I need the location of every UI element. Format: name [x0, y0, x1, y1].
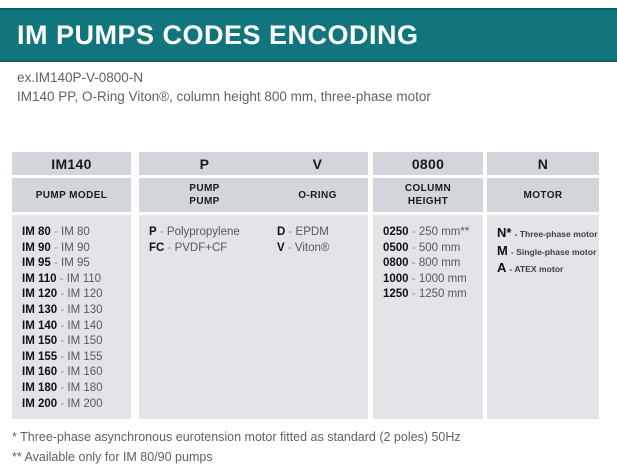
column-heading-cell: COLUMNHEIGHT [373, 178, 483, 212]
code-entry-value: 250 mm** [419, 226, 470, 238]
code-entry-key: FC [149, 242, 164, 254]
code-entry: IM 140 - IM 140 [22, 319, 131, 335]
code-entry: 0250 - 250 mm** [383, 225, 483, 241]
code-entry-dash: - [409, 257, 419, 269]
code-entry-key: 0500 [383, 242, 409, 254]
column-code-cell: P [139, 152, 270, 175]
example-description: IM140 PP, O-Ring Viton®, column height 8… [17, 87, 597, 106]
code-entry-dash: - [409, 273, 419, 285]
code-entry-key: IM 90 [22, 242, 51, 254]
column-code-cell: V [267, 152, 368, 175]
code-entry-key: P [149, 226, 157, 238]
code-entry: IM 180 - IM 180 [22, 381, 131, 397]
column-code-cell: 0800 [373, 152, 483, 175]
code-entry-dash: - [57, 304, 67, 316]
code-entry-dash: - [409, 226, 419, 238]
table-column: 0800COLUMNHEIGHT0250 - 250 mm**0500 - 50… [373, 152, 483, 419]
column-heading-line1: MOTOR [523, 189, 562, 202]
code-entry: A- ATEX motor [497, 260, 599, 278]
code-entry-key: 1250 [383, 288, 409, 300]
code-entry-dash: - [57, 335, 67, 347]
code-entry-key: M [497, 243, 508, 260]
column-heading-line1: COLUMN [405, 182, 451, 195]
code-entry-value: 1250 mm [419, 288, 467, 300]
code-entry: 0500 - 500 mm [383, 241, 483, 257]
column-heading-cell: PUMPPUMP [139, 178, 270, 212]
code-entry-value: IM 180 [67, 382, 102, 394]
column-heading-line1: PUMP [189, 182, 220, 195]
column-body-cell: IM 80 - IM 80IM 90 - IM 90IM 95 - IM 95I… [12, 215, 131, 419]
column-body-cell: P - PolypropyleneFC - PVDF+CF [139, 215, 270, 419]
code-entry-dash: - [164, 242, 174, 254]
code-entry: 0800 - 800 mm [383, 256, 483, 272]
code-entry-value: 800 mm [419, 257, 461, 269]
code-entry-key: IM 200 [22, 398, 57, 410]
code-entry-value: IM 140 [67, 320, 102, 332]
column-code-text: N [538, 156, 548, 172]
column-heading-cell: MOTOR [487, 178, 599, 212]
page-title-bar: IM PUMPS CODES ENCODING [0, 8, 617, 62]
code-entry: IM 130 - IM 130 [22, 303, 131, 319]
code-entry-key: N* [497, 225, 511, 242]
table-column: NMOTORN*- Three-phase motorM- Single-pha… [487, 152, 599, 419]
column-code-text: IM140 [51, 156, 91, 172]
table-column: VO-RINGD - EPDMV - Viton® [267, 152, 368, 419]
code-entry-value: 500 mm [419, 242, 461, 254]
code-entry-value: IM 90 [61, 242, 90, 254]
code-entry-dash: - [57, 288, 67, 300]
example-block: ex.IM140P-V-0800-N IM140 PP, O-Ring Vito… [17, 68, 597, 106]
code-entry-dash: - [57, 351, 67, 363]
footnotes-block: * Three-phase asynchronous eurotension m… [12, 427, 602, 467]
code-entry-key: IM 120 [22, 288, 57, 300]
column-code-cell: IM140 [12, 152, 131, 175]
footnote-double-asterisk: ** Available only for IM 80/90 pumps [12, 447, 602, 467]
code-entry: N*- Three-phase motor [497, 225, 599, 243]
column-code-text: P [200, 156, 210, 172]
column-code-text: V [313, 156, 323, 172]
code-entry-dash: - [57, 366, 67, 378]
code-entry-dash: - [57, 320, 67, 332]
code-entry: P - Polypropylene [149, 225, 270, 241]
code-entry: IM 80 - IM 80 [22, 225, 131, 241]
code-entry-value: IM 150 [67, 335, 102, 347]
code-entry: IM 160 - IM 160 [22, 365, 131, 381]
code-entry: IM 155 - IM 155 [22, 350, 131, 366]
code-entry-value: PVDF+CF [175, 242, 228, 254]
codes-table: IM140PUMP MODELIM 80 - IM 80IM 90 - IM 9… [12, 152, 599, 419]
code-entry-value: EPDM [296, 226, 329, 238]
code-entry-key: 0250 [383, 226, 409, 238]
code-entry-key: 1000 [383, 273, 409, 285]
code-entry-dash: - [409, 242, 419, 254]
code-entry-value: IM 110 [67, 273, 101, 285]
code-entry-value: IM 130 [67, 304, 102, 316]
code-entry-key: 0800 [383, 257, 409, 269]
code-entry: IM 110 - IM 110 [22, 272, 131, 288]
code-entry-value: IM 95 [61, 257, 90, 269]
code-entry: 1250 - 1250 mm [383, 287, 483, 303]
code-entry-key: IM 150 [22, 335, 57, 347]
column-code-text: 0800 [412, 156, 444, 172]
column-body-cell: D - EPDMV - Viton® [267, 215, 368, 419]
code-entry: IM 150 - IM 150 [22, 334, 131, 350]
code-entry-dash: - [51, 242, 61, 254]
code-entry: IM 120 - IM 120 [22, 287, 131, 303]
code-entry: IM 95 - IM 95 [22, 256, 131, 272]
code-entry-key: IM 80 [22, 226, 51, 238]
code-entry-value: - Three-phase motor [514, 226, 597, 243]
code-entry-dash: - [57, 398, 67, 410]
code-entry-key: V [277, 242, 285, 254]
code-entry-key: IM 160 [22, 366, 57, 378]
code-entry-value: IM 200 [67, 398, 102, 410]
code-entry: IM 200 - IM 200 [22, 397, 131, 413]
table-column: IM140PUMP MODELIM 80 - IM 80IM 90 - IM 9… [12, 152, 131, 419]
code-entry-value: IM 160 [67, 366, 102, 378]
code-entry: IM 90 - IM 90 [22, 241, 131, 257]
column-heading-cell: O-RING [267, 178, 368, 212]
example-code: ex.IM140P-V-0800-N [17, 68, 597, 87]
code-entry-dash: - [51, 257, 61, 269]
code-entry-key: IM 110 [22, 273, 57, 285]
code-entry-key: IM 130 [22, 304, 57, 316]
code-entry: 1000 - 1000 mm [383, 272, 483, 288]
code-entry-dash: - [285, 242, 295, 254]
column-code-cell: N [487, 152, 599, 175]
code-entry: FC - PVDF+CF [149, 241, 270, 257]
column-heading-line2: HEIGHT [408, 195, 448, 208]
footnote-single-asterisk: * Three-phase asynchronous eurotension m… [12, 427, 602, 447]
column-body-cell: 0250 - 250 mm**0500 - 500 mm0800 - 800 m… [373, 215, 483, 419]
code-entry-key: IM 180 [22, 382, 57, 394]
code-entry-value: - Single-phase motor [511, 244, 596, 261]
code-entry-value: Viton® [295, 242, 329, 254]
column-heading-cell: PUMP MODEL [12, 178, 131, 212]
code-entry-key: IM 95 [22, 257, 51, 269]
code-entry-dash: - [51, 226, 61, 238]
column-body-cell: N*- Three-phase motorM- Single-phase mot… [487, 215, 599, 419]
code-entry: V - Viton® [277, 241, 368, 257]
code-entry-key: IM 140 [22, 320, 57, 332]
code-entry-value: IM 120 [67, 288, 102, 300]
column-heading-line1: O-RING [298, 189, 337, 202]
code-entry-key: A [497, 260, 506, 277]
code-entry-value: Polypropylene [167, 226, 240, 238]
page-title: IM PUMPS CODES ENCODING [0, 20, 419, 51]
code-entry-dash: - [57, 273, 67, 285]
code-entry-dash: - [409, 288, 419, 300]
column-heading-line1: PUMP MODEL [36, 189, 108, 202]
column-heading-line2: PUMP [189, 195, 220, 208]
code-entry-dash: - [57, 382, 67, 394]
code-entry: M- Single-phase motor [497, 243, 599, 261]
code-entry: D - EPDM [277, 225, 368, 241]
code-entry-value: IM 155 [67, 351, 102, 363]
code-entry-value: 1000 mm [419, 273, 467, 285]
code-entry-dash: - [157, 226, 167, 238]
code-entry-dash: - [285, 226, 295, 238]
code-entry-value: IM 80 [61, 226, 90, 238]
code-entry-key: IM 155 [22, 351, 57, 363]
code-entry-value: - ATEX motor [509, 261, 563, 278]
table-column: PPUMPPUMPP - PolypropyleneFC - PVDF+CF [139, 152, 270, 419]
